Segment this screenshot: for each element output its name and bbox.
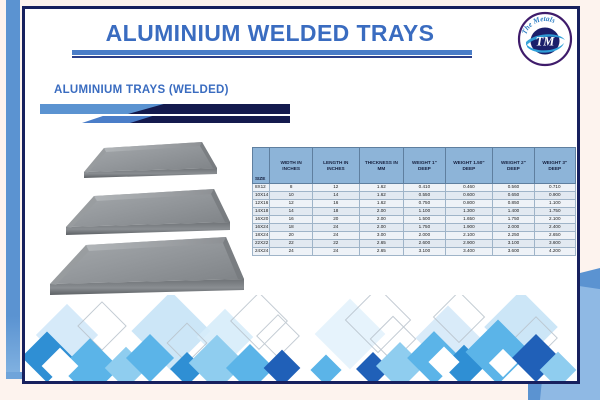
table-row: 10X1410141.620.5500.6000.6500.900 <box>253 192 576 200</box>
cell-size: 10X14 <box>253 192 270 200</box>
cell-thickness: 2.65 <box>359 248 404 256</box>
logo-monogram: TM <box>536 35 556 49</box>
cell-weight-2: 3.100 <box>493 240 534 248</box>
cell-weight-3: 2.650 <box>534 232 575 240</box>
column-header-weight-1: WEIGHT 1" DEEP <box>404 148 445 184</box>
cell-weight-1: 3.100 <box>404 248 445 256</box>
cell-weight-2: 2.250 <box>493 232 534 240</box>
brand-logo: The Metals TM <box>516 10 574 68</box>
cell-weight-150: 1.900 <box>445 224 493 232</box>
tray-middle <box>66 189 230 235</box>
cell-width: 8 <box>270 184 313 192</box>
decorative-diamond-pattern <box>25 295 577 381</box>
cell-length: 14 <box>312 192 359 200</box>
specification-table: SIZE WIDTH IN INCHES LENGTH IN INCHES TH… <box>252 147 576 256</box>
cell-weight-1: 0.550 <box>404 192 445 200</box>
table-row: 12X1612161.620.7500.8000.8501.100 <box>253 200 576 208</box>
cell-thickness: 2.00 <box>359 208 404 216</box>
cell-weight-3: 3.600 <box>534 240 575 248</box>
column-header-size: SIZE <box>253 148 270 184</box>
cell-weight-3: 0.710 <box>534 184 575 192</box>
cell-thickness: 3.00 <box>359 232 404 240</box>
cell-weight-150: 0.800 <box>445 200 493 208</box>
cell-size: 14X18 <box>253 208 270 216</box>
cell-weight-2: 2.000 <box>493 224 534 232</box>
column-header-weight-2: WEIGHT 2" DEEP <box>493 148 534 184</box>
cell-weight-1: 1.500 <box>404 216 445 224</box>
cell-weight-150: 2.900 <box>445 240 493 248</box>
cell-width: 16 <box>270 216 313 224</box>
page-title: ALUMINIUM WELDED TRAYS <box>60 20 480 47</box>
cell-length: 18 <box>312 208 359 216</box>
diamond-mosaic-icon <box>25 295 577 381</box>
cell-length: 12 <box>312 184 359 192</box>
cell-weight-2: 0.560 <box>493 184 534 192</box>
cell-length: 16 <box>312 200 359 208</box>
table-body: 8X128121.620.4100.4600.5600.71010X141014… <box>253 184 576 256</box>
cell-weight-1: 0.750 <box>404 200 445 208</box>
column-header-length: LENGTH IN INCHES <box>312 148 359 184</box>
section-title: ALUMINIUM TRAYS (WELDED) <box>54 84 229 96</box>
cell-weight-150: 1.300 <box>445 208 493 216</box>
cell-weight-1: 0.410 <box>404 184 445 192</box>
cell-weight-3: 2.100 <box>534 216 575 224</box>
title-underline-secondary <box>72 56 472 58</box>
cell-size: 8X12 <box>253 184 270 192</box>
cell-thickness: 1.62 <box>359 192 404 200</box>
column-header-thickness: THICKNESS IN MM <box>359 148 404 184</box>
cell-weight-1: 1.750 <box>404 224 445 232</box>
column-header-weight-3: WEIGHT 3" DEEP <box>534 148 575 184</box>
cell-width: 12 <box>270 200 313 208</box>
cell-weight-3: 1.100 <box>534 200 575 208</box>
cell-weight-2: 1.400 <box>493 208 534 216</box>
cell-weight-3: 4.200 <box>534 248 575 256</box>
table-row: 24X2424242.653.1003.4003.6004.200 <box>253 248 576 256</box>
cell-weight-2: 1.750 <box>493 216 534 224</box>
cell-size: 16X20 <box>253 216 270 224</box>
cell-weight-150: 2.100 <box>445 232 493 240</box>
cell-weight-3: 0.900 <box>534 192 575 200</box>
cell-weight-150: 0.600 <box>445 192 493 200</box>
title-underline <box>72 50 472 55</box>
tray-illustration <box>42 132 254 304</box>
cell-thickness: 1.62 <box>359 200 404 208</box>
table-row: 16X2016202.001.5001.6501.7502.100 <box>253 216 576 224</box>
cell-weight-150: 1.650 <box>445 216 493 224</box>
cell-weight-150: 3.400 <box>445 248 493 256</box>
cell-weight-2: 0.850 <box>493 200 534 208</box>
cell-weight-1: 2.600 <box>404 240 445 248</box>
table-row: 14X1814182.001.1001.3001.4001.750 <box>253 208 576 216</box>
catalog-page: ALUMINIUM WELDED TRAYS The Metals TM ALU… <box>0 0 600 400</box>
logo-icon: The Metals TM <box>516 10 574 68</box>
cell-width: 18 <box>270 224 313 232</box>
cell-thickness: 2.00 <box>359 224 404 232</box>
cell-length: 24 <box>312 232 359 240</box>
cell-width: 24 <box>270 248 313 256</box>
cell-weight-1: 2.000 <box>404 232 445 240</box>
cell-length: 22 <box>312 240 359 248</box>
cell-weight-2: 0.650 <box>493 192 534 200</box>
table-row: 22X2222222.652.6002.9003.1003.600 <box>253 240 576 248</box>
cell-width: 14 <box>270 208 313 216</box>
column-header-weight-150: WEIGHT 1.50" DEEP <box>445 148 493 184</box>
cell-size: 16X24 <box>253 224 270 232</box>
column-header-width: WIDTH IN INCHES <box>270 148 313 184</box>
cell-length: 24 <box>312 248 359 256</box>
cell-width: 10 <box>270 192 313 200</box>
cell-size: 24X24 <box>253 248 270 256</box>
cell-weight-3: 1.750 <box>534 208 575 216</box>
cell-length: 20 <box>312 216 359 224</box>
cell-size: 12X16 <box>253 200 270 208</box>
product-image <box>42 132 254 304</box>
cell-weight-150: 0.460 <box>445 184 493 192</box>
tray-top <box>84 142 217 178</box>
cell-width: 20 <box>270 232 313 240</box>
table-row: 18X2420243.002.0002.1002.2502.650 <box>253 232 576 240</box>
table-header-row: SIZE WIDTH IN INCHES LENGTH IN INCHES TH… <box>253 148 576 184</box>
cell-thickness: 1.62 <box>359 184 404 192</box>
cell-thickness: 2.00 <box>359 216 404 224</box>
table-row: 16X2418242.001.7501.9002.0002.400 <box>253 224 576 232</box>
section-bar-navy-2 <box>130 116 290 123</box>
cell-weight-2: 3.600 <box>493 248 534 256</box>
cell-weight-1: 1.100 <box>404 208 445 216</box>
left-accent-bar <box>6 0 20 372</box>
cell-size: 18X24 <box>253 232 270 240</box>
cell-weight-3: 2.400 <box>534 224 575 232</box>
cell-size: 22X22 <box>253 240 270 248</box>
cell-length: 24 <box>312 224 359 232</box>
cell-width: 22 <box>270 240 313 248</box>
cell-thickness: 2.65 <box>359 240 404 248</box>
tray-bottom <box>50 237 244 295</box>
table-row: 8X128121.620.4100.4600.5600.710 <box>253 184 576 192</box>
